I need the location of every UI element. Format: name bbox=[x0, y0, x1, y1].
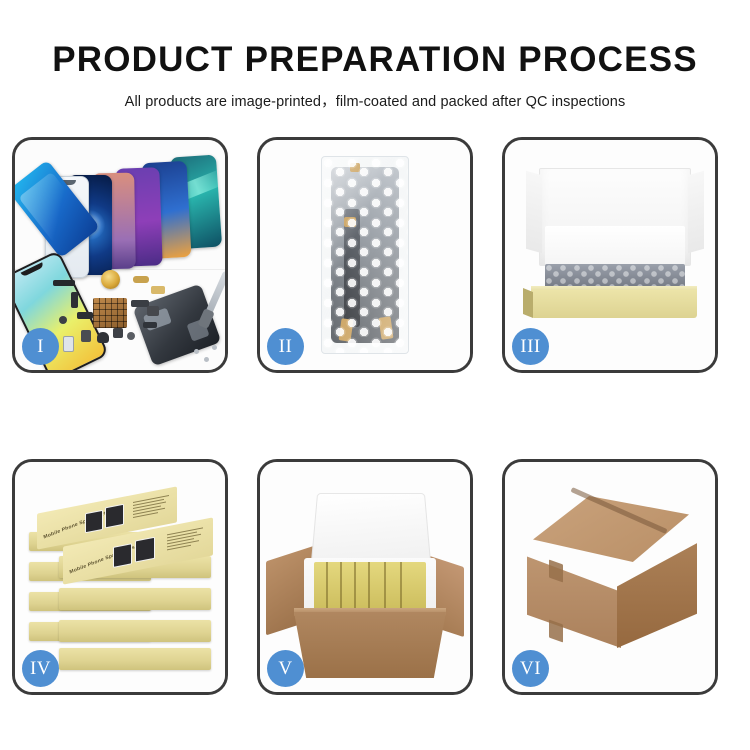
foam-lid bbox=[311, 493, 432, 567]
process-panel-4[interactable]: Mobile Phone Spare Parts Mobile Phone Sp… bbox=[12, 459, 228, 695]
box-spec-lines bbox=[167, 527, 203, 552]
box-stack: Mobile Phone Spare Parts Mobile Phone Sp… bbox=[29, 488, 215, 672]
packed-boxes bbox=[314, 562, 426, 610]
box-spec-lines bbox=[133, 495, 169, 520]
component-part bbox=[133, 276, 149, 283]
stacked-box bbox=[59, 648, 211, 670]
component-part bbox=[53, 280, 75, 286]
component-part bbox=[147, 306, 159, 316]
component-part bbox=[151, 286, 165, 294]
step-badge-5: V bbox=[267, 650, 304, 687]
page-title: PRODUCT PREPARATION PROCESS bbox=[0, 0, 750, 79]
component-part bbox=[63, 336, 74, 352]
step-badge-4: IV bbox=[22, 650, 59, 687]
step-badge-3: III bbox=[512, 328, 549, 365]
process-panel-6[interactable]: VI bbox=[502, 459, 718, 695]
screw-icon bbox=[212, 345, 217, 350]
component-part bbox=[71, 292, 78, 308]
process-panel-grid: I II III bbox=[12, 137, 738, 695]
process-panel-5[interactable]: V bbox=[257, 459, 473, 695]
component-part bbox=[131, 300, 149, 307]
box-base bbox=[531, 290, 697, 318]
process-panel-1[interactable]: I bbox=[12, 137, 228, 373]
step-badge-1: I bbox=[22, 328, 59, 365]
component-part bbox=[113, 328, 123, 338]
page-header: PRODUCT PREPARATION PROCESS All products… bbox=[0, 0, 750, 111]
stacked-box bbox=[59, 620, 211, 642]
step-badge-6: VI bbox=[512, 650, 549, 687]
screw-icon bbox=[194, 349, 199, 354]
component-part bbox=[81, 330, 91, 342]
component-part bbox=[143, 322, 157, 328]
component-part bbox=[97, 332, 109, 343]
carton-front-face bbox=[527, 544, 621, 648]
coil-part-icon bbox=[101, 270, 120, 289]
box-artwork-phone bbox=[113, 543, 132, 568]
box-artwork-phone bbox=[85, 510, 103, 533]
screw-icon bbox=[204, 357, 209, 362]
bubble-wrap-bag bbox=[321, 156, 409, 354]
film-sheen bbox=[322, 157, 408, 353]
carton-tape bbox=[549, 619, 563, 642]
component-part bbox=[59, 316, 67, 324]
chip-board-icon bbox=[93, 298, 127, 328]
process-panel-2[interactable]: II bbox=[257, 137, 473, 373]
component-part bbox=[127, 332, 135, 340]
page-subtitle: All products are image-printed，film-coat… bbox=[0, 79, 750, 111]
foam-liner bbox=[545, 226, 685, 268]
stacked-box bbox=[59, 588, 211, 610]
step-badge-2: II bbox=[267, 328, 304, 365]
carton-body bbox=[294, 612, 446, 678]
box-artwork-phone bbox=[135, 537, 155, 563]
component-part bbox=[77, 312, 93, 319]
screwdriver-icon bbox=[205, 271, 228, 316]
box-artwork-phone bbox=[105, 504, 124, 529]
process-panel-3[interactable]: III bbox=[502, 137, 718, 373]
